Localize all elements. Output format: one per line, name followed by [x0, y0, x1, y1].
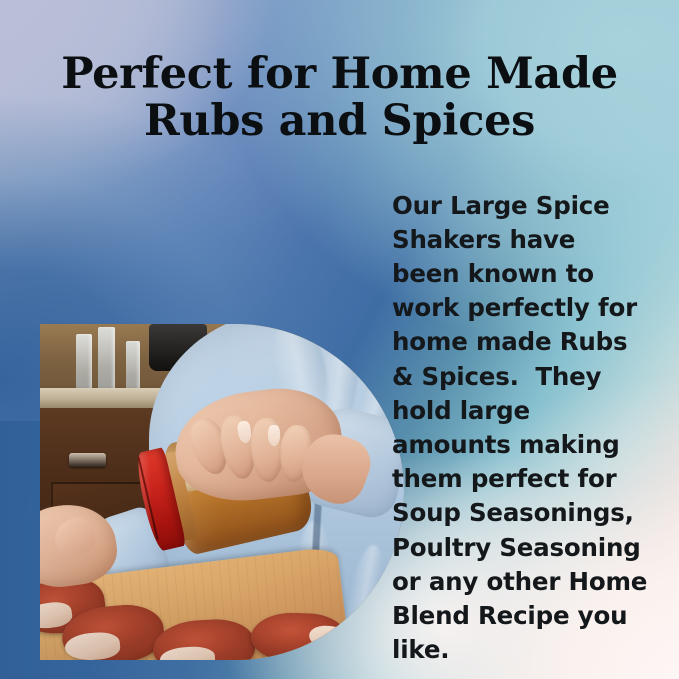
photo-scene [40, 324, 404, 660]
page-title-line-2: Rubs and Spices [0, 98, 679, 145]
page-title-line-1: Perfect for Home Made [0, 51, 679, 98]
body-paragraph: Our Large Spice Shakers have been known … [392, 189, 650, 668]
cabinet-handle [69, 453, 105, 466]
product-usage-photo [40, 324, 404, 660]
page-title: Perfect for Home Made Rubs and Spices [0, 51, 679, 145]
infographic-canvas: Perfect for Home Made Rubs and Spices Ou… [0, 0, 679, 679]
